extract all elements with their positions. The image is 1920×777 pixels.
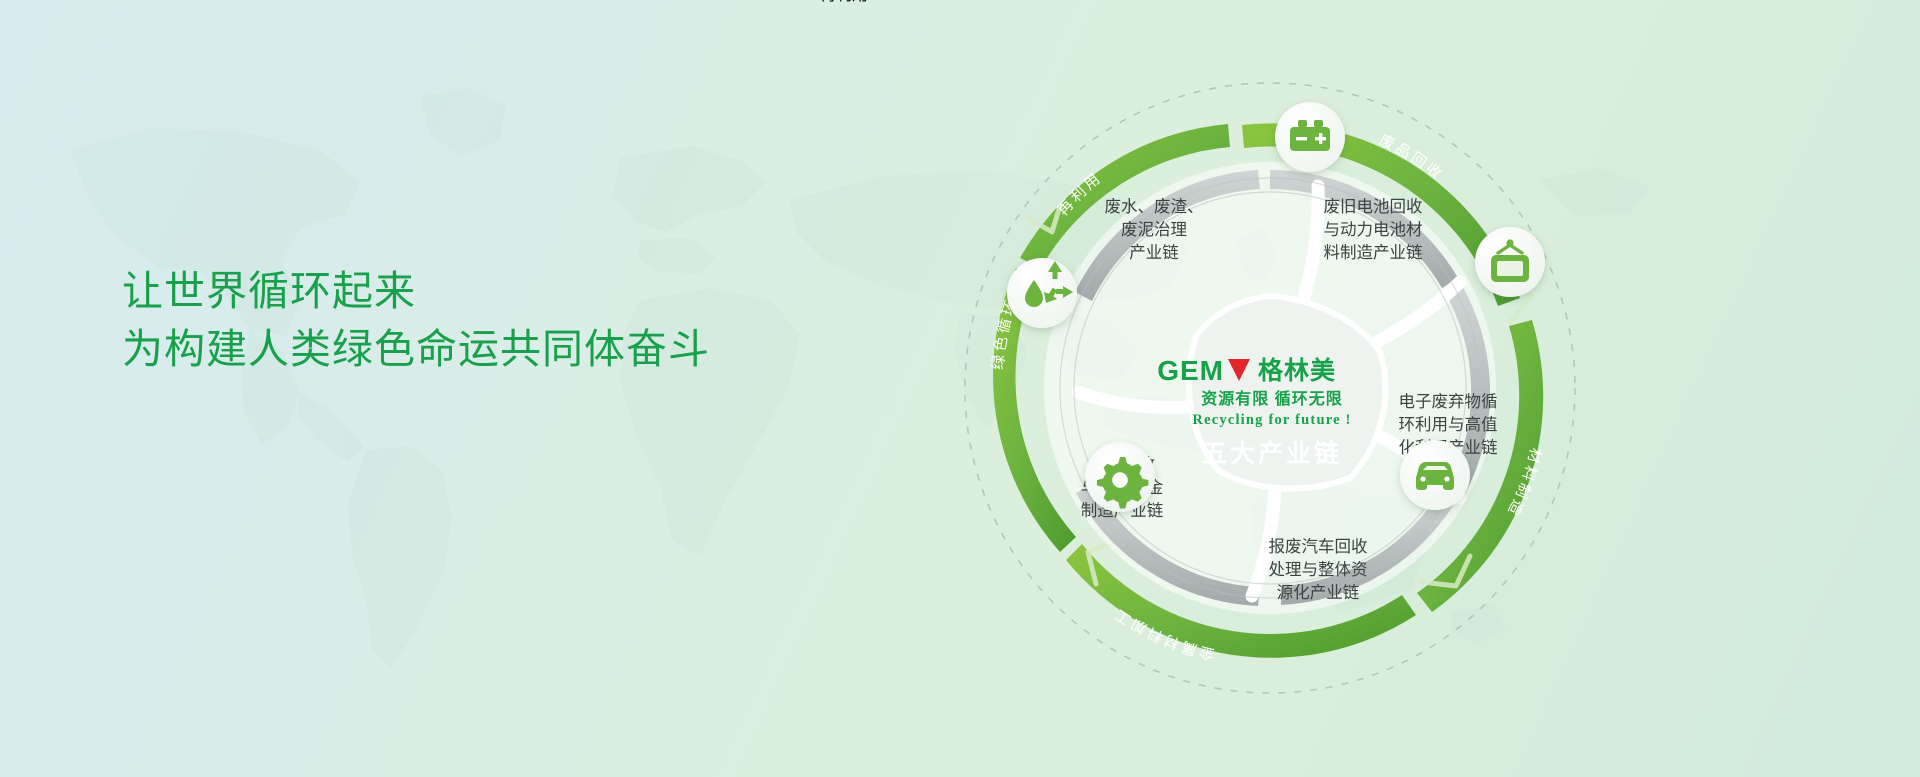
badge-gear[interactable]: [1085, 442, 1155, 512]
svg-text:处理与整体资: 处理与整体资: [1269, 560, 1368, 579]
svg-text:产业链: 产业链: [1129, 243, 1179, 262]
five-industry-chains-diagram: 废品回收 材料制造 金属材料加工 绿色循环产品 再利用: [820, 0, 1720, 777]
segment-label-battery: 废旧电池回收 与动力电池材 料制造产业链: [1324, 197, 1424, 262]
svg-text:与动力电池材: 与动力电池材: [1324, 220, 1423, 239]
center-caption: 五大产业链: [1202, 439, 1342, 468]
badge-television[interactable]: [1475, 227, 1545, 297]
svg-text:电子废弃物循: 电子废弃物循: [1399, 392, 1498, 411]
brand-cn: 格林美: [1258, 356, 1336, 385]
segment-label-vehicle: 报废汽车回收 处理与整体资 源化产业链: [1269, 537, 1368, 602]
brand-latin: GEM: [1157, 355, 1224, 386]
headline-line-2: 为构建人类绿色命运共同体奋斗: [122, 320, 710, 378]
headline-line-1: 让世界循环起来: [122, 262, 710, 320]
svg-text:源化产业链: 源化产业链: [1277, 583, 1360, 602]
svg-text:废旧电池回收: 废旧电池回收: [1324, 197, 1423, 216]
svg-text:报废汽车回收: 报废汽车回收: [1269, 537, 1368, 556]
badge-battery[interactable]: [1275, 102, 1345, 172]
brand-slogan-cn: 资源有限 循环无限: [1201, 389, 1342, 408]
a11y-reuse: 再利用: [820, 0, 868, 4]
svg-text:废泥治理: 废泥治理: [1121, 220, 1187, 239]
svg-text:废水、废渣、: 废水、废渣、: [1105, 197, 1204, 216]
badge-recycle-water[interactable]: [1007, 258, 1077, 328]
svg-text:料制造产业链: 料制造产业链: [1324, 243, 1424, 262]
svg-text:环利用与高值: 环利用与高值: [1399, 415, 1498, 434]
brand-slogan-en: Recycling for future !: [1192, 412, 1351, 428]
headline-block: 让世界循环起来 为构建人类绿色命运共同体奋斗: [122, 262, 710, 378]
badge-car[interactable]: [1400, 440, 1470, 510]
